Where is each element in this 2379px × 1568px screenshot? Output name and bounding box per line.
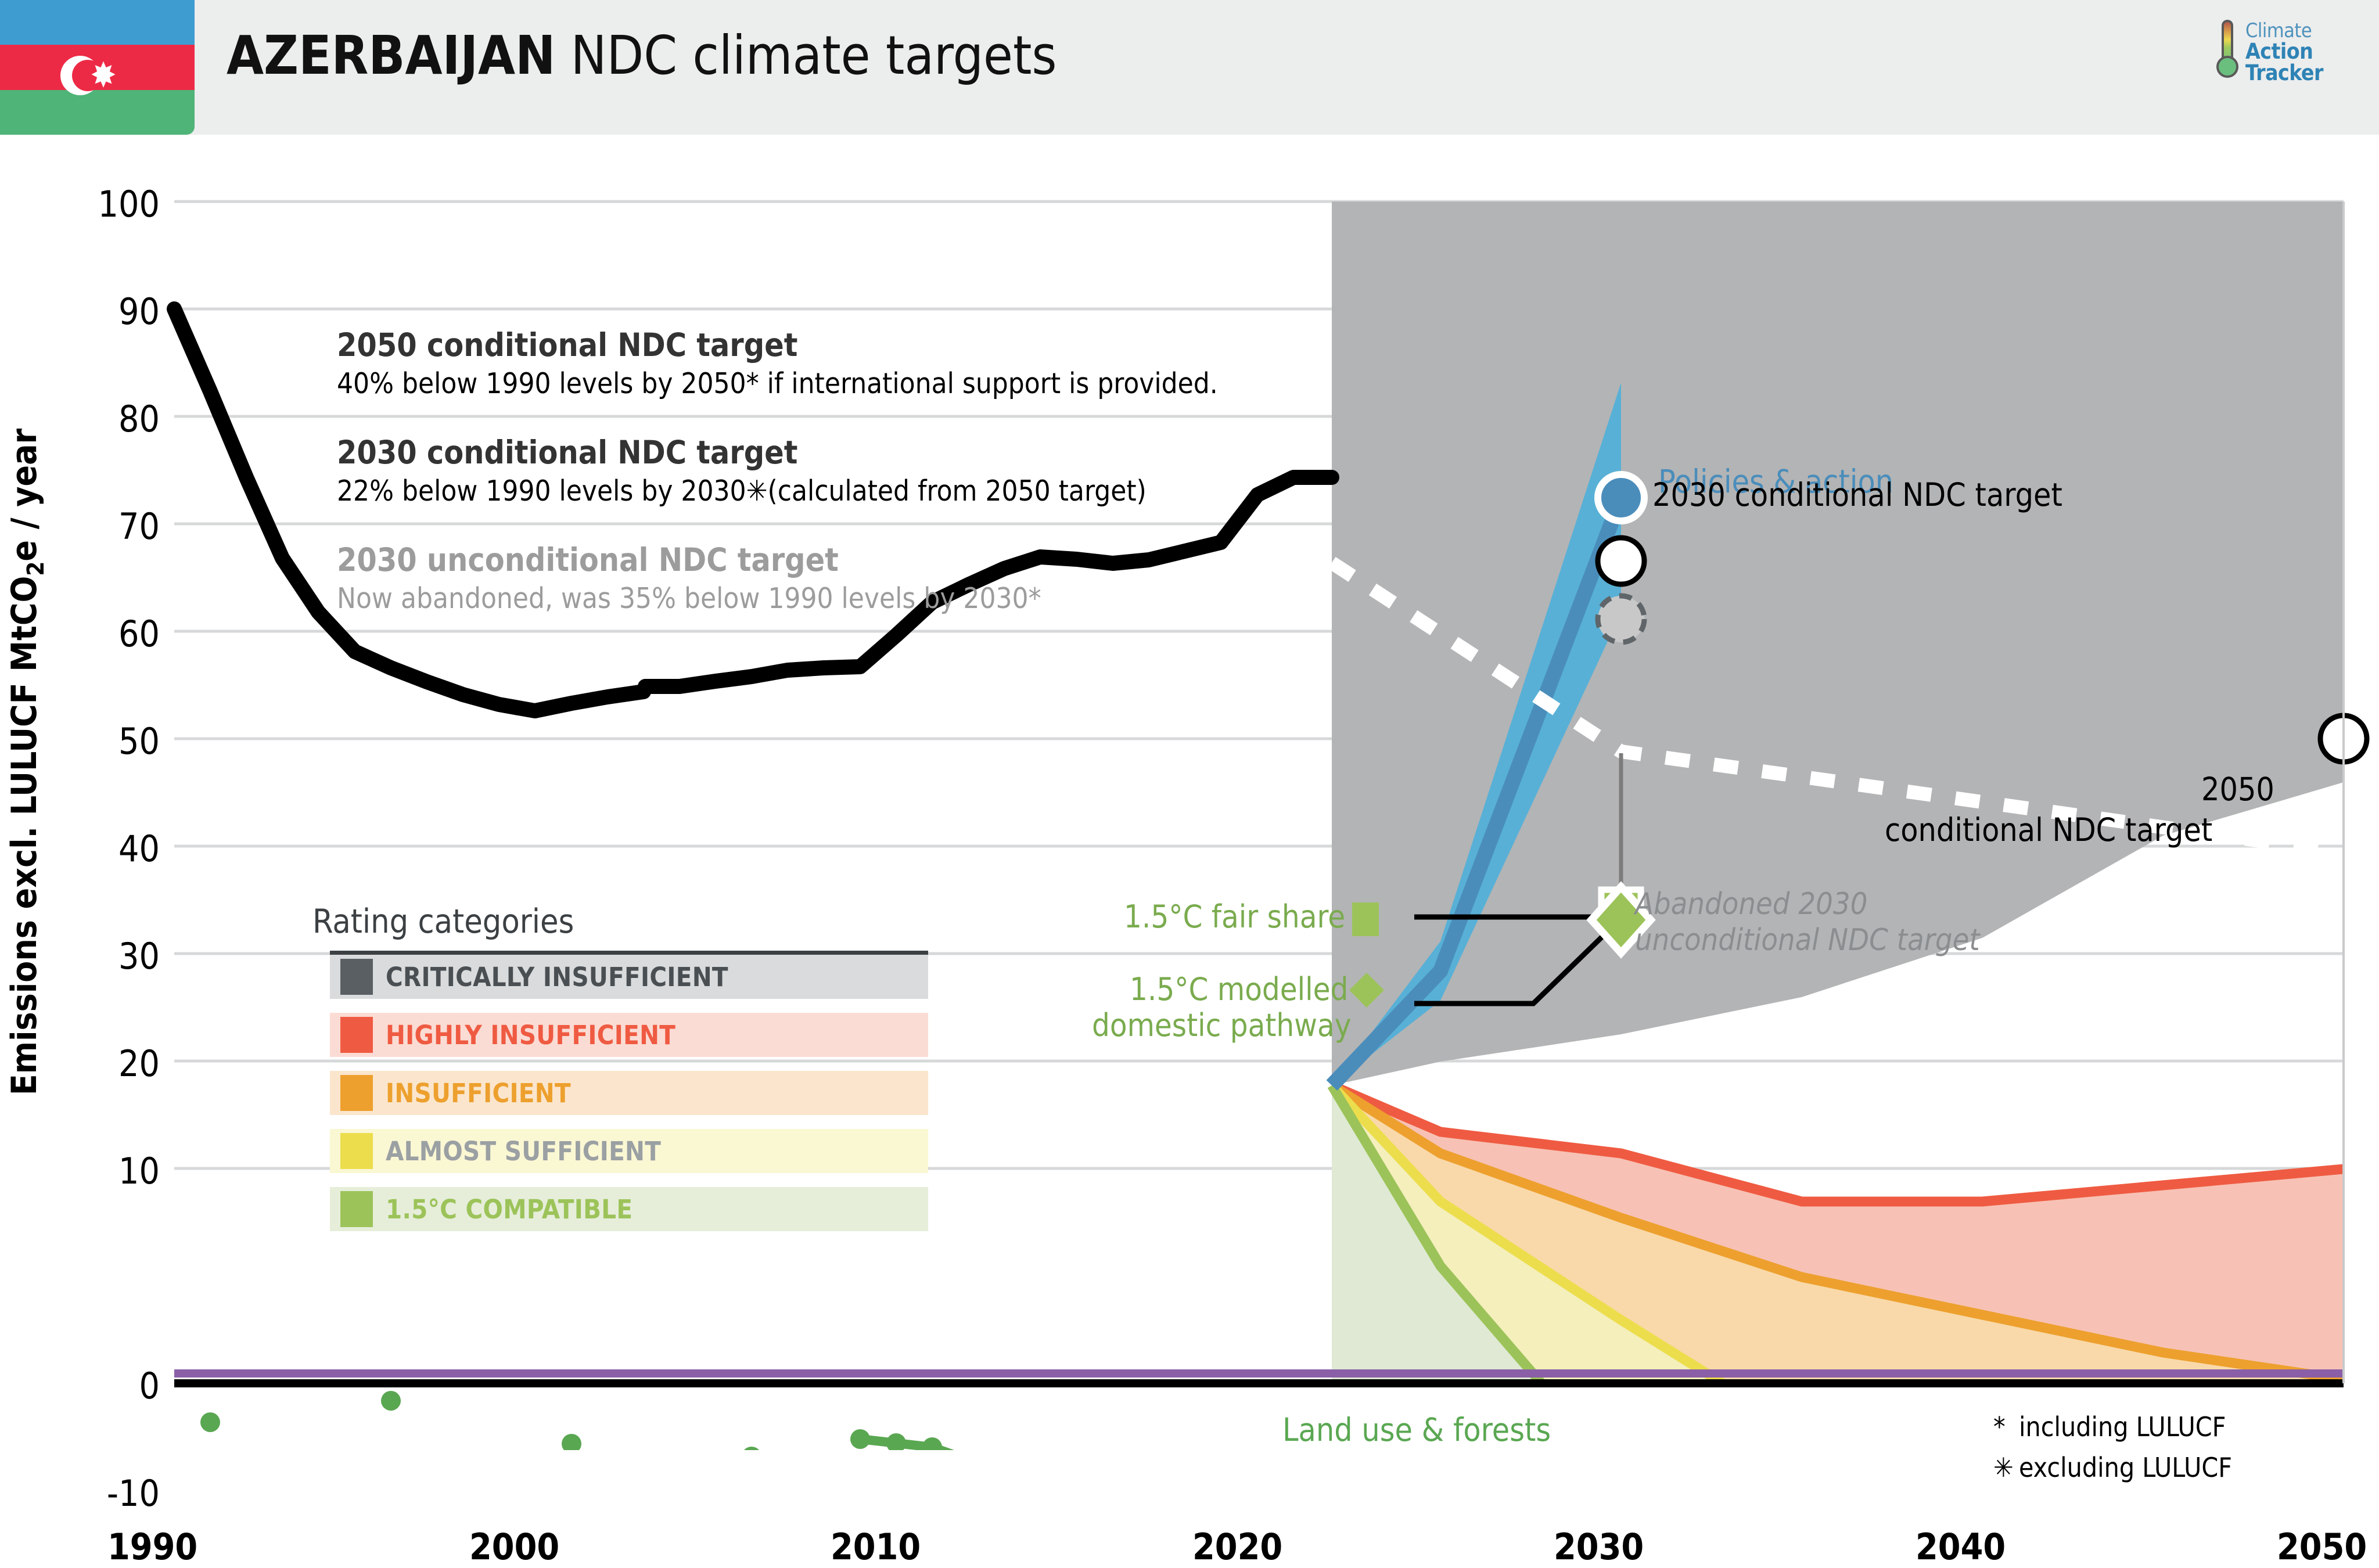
y-tick-70: 70 [61,505,160,548]
x-tick-2040: 2040 [1916,1526,2006,1568]
fairshare-legend-swatch [1352,902,1379,936]
y-tick-80: 80 [61,398,160,440]
y-tick-0: 0 [61,1365,160,1407]
legend-row-highly-insufficient[interactable]: HIGHLY INSUFFICIENT [330,1013,928,1057]
x-tick-2050: 2050 [2277,1526,2367,1568]
legend-swatch-1p5c-compatible [340,1191,373,1227]
legend-label-highly-insufficient: HIGHLY INSUFFICIENT [386,1020,675,1051]
legend-row-critically-insufficient[interactable]: CRITICALLY INSUFFICIENT [330,955,928,999]
annotation-2030-conditional-sub: 22% below 1990 levels by 2030✳(calculate… [337,474,1147,508]
target-2050-conditional-label-line2: conditional NDC target [1885,811,2212,848]
target-2030-conditional-label: 2030 conditional NDC target [1652,476,2062,513]
flag-band-green [0,90,195,135]
logo-wordmark: Climate Action Tracker [2245,21,2323,84]
flag-band-blue [0,0,195,45]
x-tick-2020: 2020 [1192,1526,1282,1568]
fairshare-label: 1.5°C fair share [1124,898,1345,935]
page-title-subject: NDC climate targets [555,24,1056,87]
target-2030-abandoned-unconditional-marker [1598,596,1644,642]
y-tick-100: 100 [61,183,160,225]
policies-action-2030-marker [1598,474,1644,521]
y-tick-10: 10 [61,1150,160,1192]
legend-title: Rating categories [312,902,574,941]
annotation-2050-target-sub: 40% below 1990 levels by 2050* if intern… [337,367,1218,400]
page-header: ✸ AZERBAIJAN NDC climate targets Climate… [0,0,2379,135]
legend-label-critically-insufficient: CRITICALLY INSUFFICIENT [386,962,728,992]
legend-row-almost-sufficient[interactable]: ALMOST SUFFICIENT [330,1129,928,1173]
modelled-pathway-label-line2: domestic pathway [1092,1007,1351,1044]
abandoned-target-label-line1: Abandoned 2030 [1635,887,1867,922]
y-tick-50: 50 [61,720,160,763]
legend-swatch-insufficient [340,1075,373,1111]
annotation-2030-unconditional-sub: Now abandoned, was 35% below 1990 levels… [337,582,1041,615]
y-tick-60: 60 [61,613,160,655]
legend-swatch-critically-insufficient [340,959,373,995]
target-2050-conditional-label-line1: 2050 [2201,771,2274,808]
footnote-text-excluding-lulucf: excluding LULUCF [2019,1452,2232,1483]
legend-label-almost-sufficient: ALMOST SUFFICIENT [386,1136,661,1167]
y-tick-40: 40 [61,828,160,870]
footnote-including-lulucf: *including LULUCF [1993,1411,2226,1443]
chart-plot-area: Emissions excl. LULUCF MtCO2e / year [0,135,2379,1450]
annotation-2050-target-heading: 2050 conditional NDC target [337,326,797,364]
page-title: AZERBAIJAN NDC climate targets [227,29,1057,82]
page-title-country: AZERBAIJAN [227,24,555,87]
x-tick-2030: 2030 [1554,1526,1644,1568]
legend-swatch-almost-sufficient [340,1133,373,1169]
legend-label-insufficient: INSUFFICIENT [386,1078,571,1109]
landuse-forests-series [200,1391,1303,1450]
target-2030-conditional-marker [1598,538,1644,584]
footnote-excluding-lulucf: ✳excluding LULUCF [1993,1452,2232,1483]
logo-line-action: Action [2245,41,2323,62]
flag-star-icon: ✸ [90,63,117,89]
logo-line-tracker: Tracker [2245,62,2323,84]
y-tick-neg10: -10 [36,1472,160,1515]
thermometer-icon [2216,20,2238,85]
annotation-2030-unconditional-heading: 2030 unconditional NDC target [337,541,839,578]
thermometer-bulb [2216,56,2238,78]
climate-action-tracker-logo: Climate Action Tracker [2216,14,2362,89]
x-tick-2000: 2000 [469,1526,559,1568]
footnote-text-including-lulucf: including LULUCF [2019,1411,2226,1443]
legend-swatch-highly-insufficient [340,1017,373,1053]
legend-row-insufficient[interactable]: INSUFFICIENT [330,1071,928,1115]
abandoned-target-label-line2: unconditional NDC target [1635,923,1980,958]
footnote-symbol-asterisk: * [1993,1411,2019,1443]
modelled-pathway-label-line1: 1.5°C modelled [1130,971,1348,1008]
legend-row-1p5c-compatible[interactable]: 1.5°C COMPATIBLE [330,1187,928,1231]
landuse-forests-label: Land use & forests [1282,1411,1551,1448]
y-tick-30: 30 [61,935,160,977]
x-tick-2010: 2010 [831,1526,921,1568]
annotation-2030-conditional-heading: 2030 conditional NDC target [337,434,797,471]
y-tick-90: 90 [61,290,160,333]
x-tick-1990: 1990 [107,1526,197,1568]
azerbaijan-flag-icon: ✸ [0,0,195,135]
logo-line-climate: Climate [2245,21,2323,41]
y-tick-20: 20 [61,1042,160,1085]
footnote-symbol-cross: ✳ [1993,1452,2019,1483]
modelled-pathway-legend-diamond [1346,970,1387,1010]
legend-label-1p5c-compatible: 1.5°C COMPATIBLE [386,1194,633,1225]
